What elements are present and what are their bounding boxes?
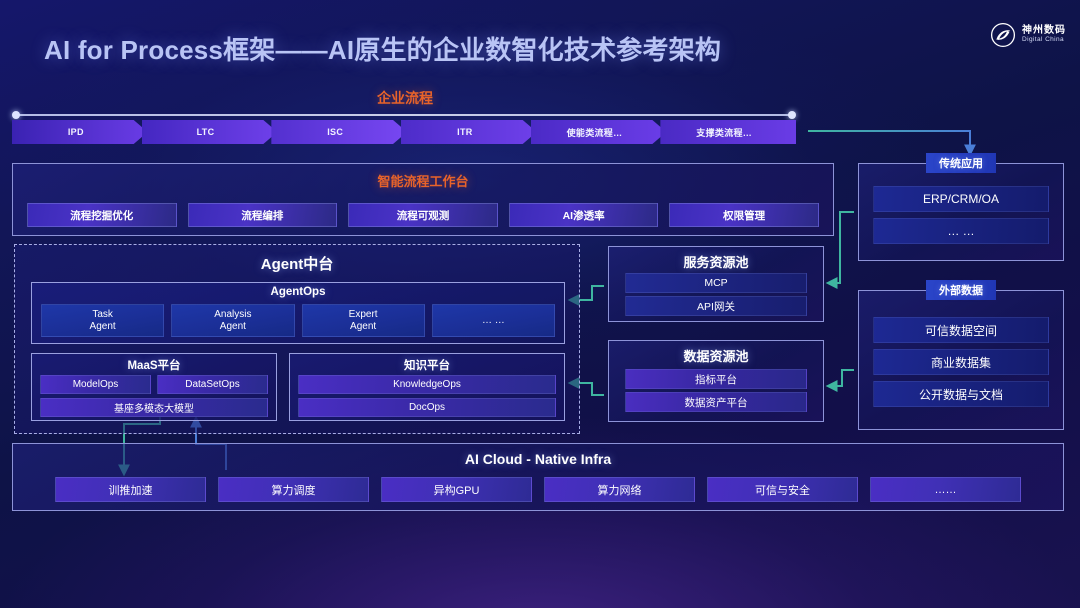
- agentops-item-line2: Agent: [90, 321, 116, 333]
- external-data-title: 外部数据: [926, 280, 996, 300]
- process-step-label: ISC: [327, 127, 343, 137]
- service-pool-title: 服务资源池: [609, 252, 823, 271]
- process-step-label: 支撑类流程…: [696, 126, 752, 139]
- process-rail-line: [17, 114, 791, 116]
- data-pool-item-list: 指标平台 数据资产平台: [625, 369, 807, 415]
- process-rail-dot-left: [12, 111, 20, 119]
- maas-item-datasetops[interactable]: DataSetOps: [157, 375, 268, 394]
- external-data-item-public-data-docs[interactable]: 公开数据与文档: [873, 381, 1049, 407]
- legacy-apps-panel: 传统应用 ERP/CRM/OA … …: [858, 163, 1064, 261]
- workbench-item-ai-penetration[interactable]: AI渗透率: [509, 203, 659, 227]
- agentops-item-line1: Expert: [349, 309, 378, 321]
- data-pool-item-data-asset-platform[interactable]: 数据资产平台: [625, 392, 807, 412]
- process-rail: [12, 111, 796, 119]
- agentops-item-task-agent[interactable]: Task Agent: [41, 304, 164, 337]
- process-chevron-bar: IPD LTC ISC ITR 使能类流程… 支撑类流程…: [12, 120, 796, 144]
- external-data-item-trusted-space[interactable]: 可信数据空间: [873, 317, 1049, 343]
- external-data-panel: 外部数据 可信数据空间 商业数据集 公开数据与文档: [858, 290, 1064, 430]
- data-pool-title: 数据资源池: [609, 346, 823, 365]
- knowledge-item-docops[interactable]: DocOps: [298, 398, 556, 417]
- workbench-item-list: 流程挖掘优化 流程编排 流程可观测 AI渗透率 权限管理: [27, 203, 819, 227]
- infra-title: AI Cloud - Native Infra: [13, 451, 1063, 467]
- infra-item-more[interactable]: ……: [870, 477, 1021, 502]
- process-step-label: IPD: [68, 127, 84, 137]
- process-step-label: LTC: [197, 127, 215, 137]
- knowledge-row-2: DocOps: [298, 398, 556, 417]
- page-title: AI for Process框架——AI原生的企业数智化技术参考架构: [44, 30, 721, 67]
- logo-text-en: Digital China: [1022, 37, 1066, 44]
- maas-row-foundation: 基座多模态大模型: [40, 398, 268, 417]
- agentops-item-more[interactable]: … …: [432, 304, 555, 337]
- legacy-apps-item-list: ERP/CRM/OA … …: [873, 186, 1049, 250]
- knowledge-item-knowledgeops[interactable]: KnowledgeOps: [298, 375, 556, 394]
- process-step-isc[interactable]: ISC: [271, 120, 407, 144]
- infra-item-trust-security[interactable]: 可信与安全: [707, 477, 858, 502]
- maas-platform-panel: MaaS平台 ModelOps DataSetOps 基座多模态大模型: [31, 353, 277, 421]
- legacy-apps-item-erp-crm-oa[interactable]: ERP/CRM/OA: [873, 186, 1049, 212]
- process-step-supporting[interactable]: 支撑类流程…: [660, 120, 796, 144]
- wire-process-to-legacy: [808, 131, 970, 154]
- data-resource-pool-panel: 数据资源池 指标平台 数据资产平台: [608, 340, 824, 422]
- workbench-item-process-orchestration[interactable]: 流程编排: [188, 203, 338, 227]
- maas-item-modelops[interactable]: ModelOps: [40, 375, 151, 394]
- external-data-item-list: 可信数据空间 商业数据集 公开数据与文档: [873, 317, 1049, 413]
- service-resource-pool-panel: 服务资源池 MCP API网关: [608, 246, 824, 322]
- maas-platform-title: MaaS平台: [32, 357, 276, 373]
- workbench-item-process-mining[interactable]: 流程挖掘优化: [27, 203, 177, 227]
- data-pool-item-metric-platform[interactable]: 指标平台: [625, 369, 807, 389]
- agentops-item-line1: … …: [482, 315, 505, 327]
- service-pool-item-mcp[interactable]: MCP: [625, 273, 807, 293]
- agentops-item-line1: Analysis: [214, 309, 251, 321]
- agent-platform-panel: Agent中台 AgentOps Task Agent Analysis Age…: [14, 244, 580, 434]
- legacy-apps-item-more[interactable]: … …: [873, 218, 1049, 244]
- infra-item-compute-scheduling[interactable]: 算力调度: [218, 477, 369, 502]
- service-pool-item-list: MCP API网关: [625, 273, 807, 319]
- agentops-panel: AgentOps Task Agent Analysis Agent Exper…: [31, 282, 565, 344]
- brand-logo: 神州数码 Digital China: [990, 22, 1066, 48]
- ai-cloud-native-infra-panel: AI Cloud - Native Infra 训推加速 算力调度 异构GPU …: [12, 443, 1064, 511]
- external-data-item-commercial-dataset[interactable]: 商业数据集: [873, 349, 1049, 375]
- agentops-title: AgentOps: [32, 286, 564, 298]
- slide-canvas: AI for Process框架——AI原生的企业数智化技术参考架构 神州数码 …: [0, 0, 1080, 608]
- knowledge-platform-panel: 知识平台 KnowledgeOps DocOps: [289, 353, 565, 421]
- smart-process-workbench-panel: 智能流程工作台 流程挖掘优化 流程编排 流程可观测 AI渗透率 权限管理: [12, 163, 834, 236]
- process-step-enabling[interactable]: 使能类流程…: [531, 120, 667, 144]
- workbench-item-permissions[interactable]: 权限管理: [669, 203, 819, 227]
- service-pool-item-api-gateway[interactable]: API网关: [625, 296, 807, 316]
- infra-item-compute-network[interactable]: 算力网络: [544, 477, 695, 502]
- wire-external-to-data-pool: [828, 370, 854, 386]
- process-step-itr[interactable]: ITR: [401, 120, 537, 144]
- process-step-label: 使能类流程…: [567, 126, 623, 139]
- knowledge-row-1: KnowledgeOps: [298, 375, 556, 394]
- agentops-item-expert-agent[interactable]: Expert Agent: [302, 304, 425, 337]
- maas-row-ops: ModelOps DataSetOps: [40, 375, 268, 394]
- process-step-label: ITR: [457, 127, 472, 137]
- agentops-item-analysis-agent[interactable]: Analysis Agent: [171, 304, 294, 337]
- agentops-item-line1: Task: [92, 309, 113, 321]
- agentops-item-list: Task Agent Analysis Agent Expert Agent ……: [41, 304, 555, 337]
- infra-item-list: 训推加速 算力调度 异构GPU 算力网络 可信与安全 ……: [55, 477, 1021, 502]
- agent-platform-title: Agent中台: [15, 253, 579, 274]
- knowledge-platform-title: 知识平台: [290, 357, 564, 373]
- workbench-title: 智能流程工作台: [13, 171, 833, 190]
- process-rail-dot-right: [788, 111, 796, 119]
- workbench-item-process-observability[interactable]: 流程可观测: [348, 203, 498, 227]
- legacy-apps-title: 传统应用: [926, 153, 996, 173]
- infra-item-heterogeneous-gpu[interactable]: 异构GPU: [381, 477, 532, 502]
- process-step-ipd[interactable]: IPD: [12, 120, 148, 144]
- infra-item-train-infer-accel[interactable]: 训推加速: [55, 477, 206, 502]
- process-step-ltc[interactable]: LTC: [142, 120, 278, 144]
- swirl-logo-icon: [990, 22, 1016, 48]
- agentops-item-line2: Agent: [350, 321, 376, 333]
- maas-item-foundation-model[interactable]: 基座多模态大模型: [40, 398, 268, 417]
- process-band-title: 企业流程: [0, 88, 810, 108]
- agentops-item-line2: Agent: [220, 321, 246, 333]
